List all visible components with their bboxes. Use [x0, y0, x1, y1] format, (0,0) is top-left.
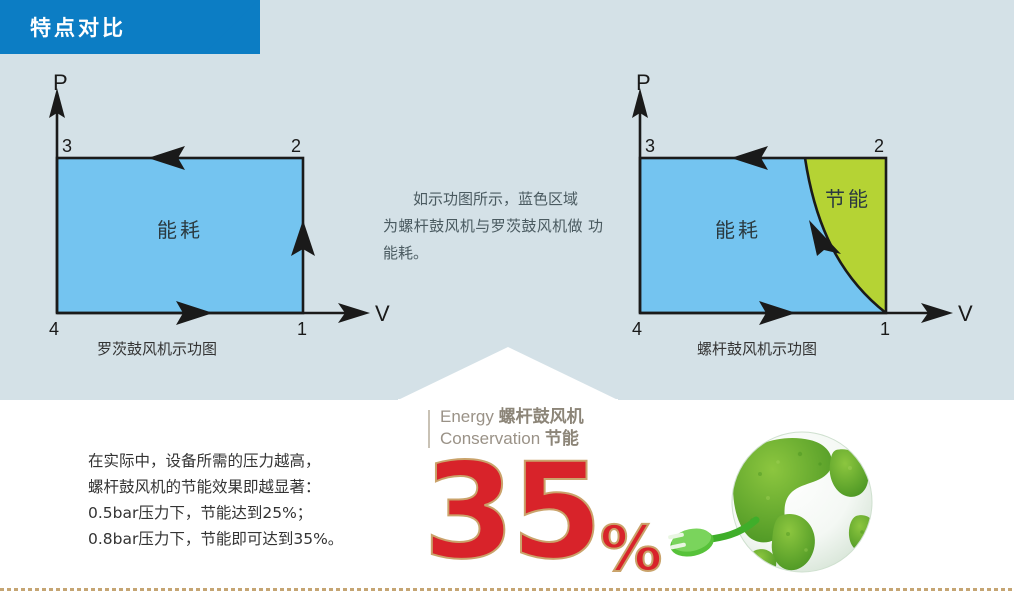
corner-label-4: 4: [632, 319, 642, 335]
corner-label-1: 1: [297, 319, 307, 335]
power-plug-icon: [668, 525, 716, 560]
middle-note-line-2: 为螺杆鼓风机与罗茨鼓风机做: [383, 217, 583, 235]
corner-label-1: 1: [880, 319, 890, 335]
v-axis-label: V: [375, 301, 390, 326]
corner-label-2: 2: [291, 136, 301, 156]
corner-label-3: 3: [62, 136, 72, 156]
region-label-energy-consumption: 能耗: [715, 218, 761, 242]
corner-label-4: 4: [49, 319, 59, 335]
corner-label-2: 2: [874, 136, 884, 156]
p-axis-label: P: [53, 70, 68, 95]
diagram-screw-blower: P V 3 2 4 1 能耗 节能: [603, 70, 973, 335]
badge-en-line-1: Energy: [440, 407, 494, 426]
middle-note: 如示功图所示，蓝色区域 为螺杆鼓风机与罗茨鼓风机做 功能耗。: [383, 186, 603, 267]
p-axis-label: P: [636, 70, 651, 95]
region-label-energy-saving: 节能: [825, 187, 871, 211]
badge-number: 35: [423, 446, 599, 578]
badge-percent-sign: %: [600, 518, 662, 580]
bottom-line-3: 0.5bar压力下，节能达到25%；: [88, 500, 343, 526]
region-label-energy-consumption: 能耗: [157, 218, 203, 242]
header-ribbon-slope: [204, 0, 258, 54]
badge-cn-line-1: 螺杆鼓风机: [499, 407, 584, 427]
caption-screw-blower: 螺杆鼓风机示功图: [697, 338, 817, 359]
bottom-line-1: 在实际中，设备所需的压力越高，: [88, 448, 343, 474]
bottom-description: 在实际中，设备所需的压力越高， 螺杆鼓风机的节能效果即越显著： 0.5bar压力…: [88, 448, 343, 552]
middle-note-line-1: 如示功图所示，蓝色区域: [383, 186, 603, 213]
bottom-dotted-divider: [0, 588, 1014, 591]
corner-label-3: 3: [645, 136, 655, 156]
page-title: 特点对比: [30, 12, 126, 42]
caption-roots-blower: 罗茨鼓风机示功图: [97, 338, 217, 359]
green-globe-graphic: [660, 424, 910, 589]
bottom-line-2: 螺杆鼓风机的节能效果即越显著：: [88, 474, 343, 500]
v-axis-label: V: [958, 301, 973, 326]
diagram-roots-blower: P V 3 2 4 1 能耗: [20, 70, 390, 335]
slide-root: 特点对比 P V 3 2 4 1: [0, 0, 1014, 606]
white-notch-arrow: [398, 347, 618, 400]
bottom-line-4: 0.8bar压力下，节能即可达到35%。: [88, 526, 343, 552]
